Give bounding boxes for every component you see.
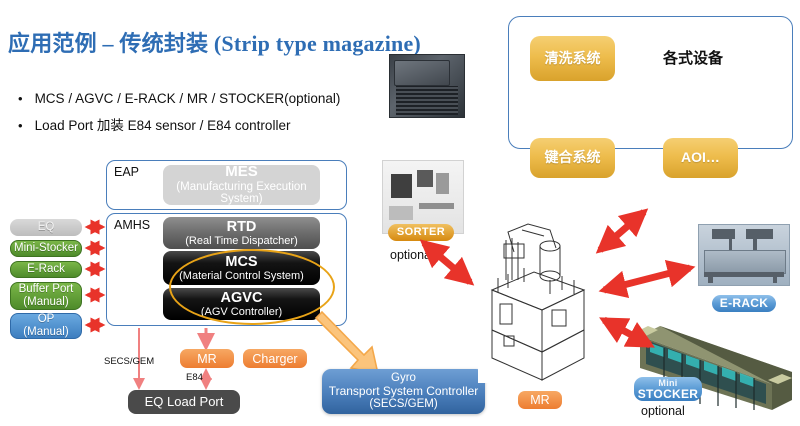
process-flow-arrows xyxy=(0,0,800,426)
